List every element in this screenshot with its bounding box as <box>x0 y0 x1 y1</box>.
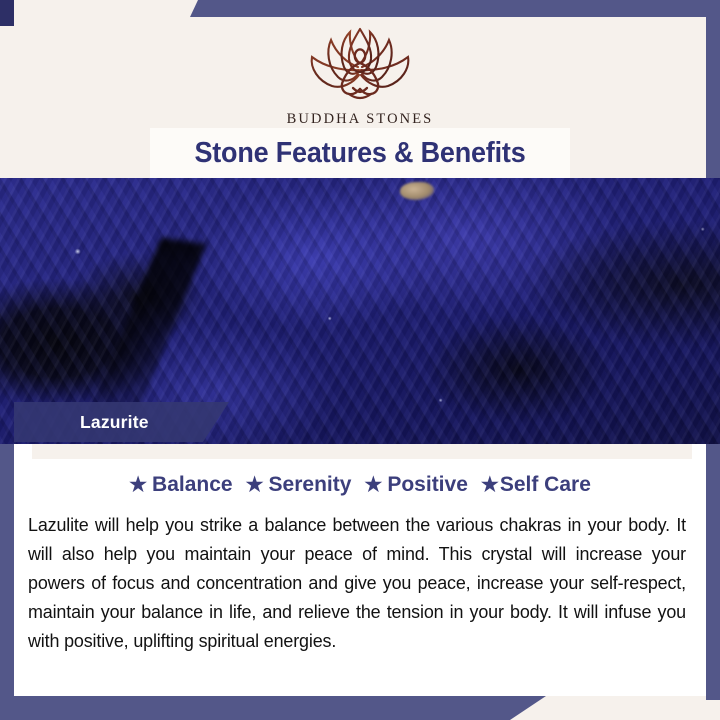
title-banner: Stone Features & Benefits <box>150 128 570 178</box>
star-icon: ★ <box>481 475 499 495</box>
benefit-label: Serenity <box>269 473 352 497</box>
benefits-list: ★ Balance ★ Serenity ★ Positive ★ Self C… <box>14 473 706 497</box>
stone-name-label: Lazurite <box>80 412 149 433</box>
benefit-item-serenity: ★ Serenity <box>246 473 352 497</box>
frame-band-top <box>190 0 720 17</box>
star-icon: ★ <box>129 475 147 495</box>
star-icon: ★ <box>246 475 264 495</box>
infographic-card: BUDDHA STONES Stone Features & Benefits … <box>0 0 720 720</box>
benefit-label: Positive <box>387 473 468 497</box>
content-panel: ★ Balance ★ Serenity ★ Positive ★ Self C… <box>14 444 706 696</box>
benefit-label: Balance <box>152 473 233 497</box>
frame-band-bottom <box>0 696 546 720</box>
benefit-item-self-care: ★ Self Care <box>481 473 591 497</box>
brand-name: BUDDHA STONES <box>287 111 434 128</box>
benefit-item-positive: ★ Positive <box>364 473 467 497</box>
content-top-strip <box>32 444 692 459</box>
brand-logo: BUDDHA STONES <box>14 23 706 128</box>
stone-name-tag: Lazurite <box>14 402 229 442</box>
benefit-label: Self Care <box>500 473 591 497</box>
stone-description: Lazulite will help you strike a balance … <box>28 511 686 656</box>
lotus-meditation-icon <box>285 23 435 109</box>
frame-corner-block <box>0 0 14 26</box>
frame-band-left <box>0 444 14 696</box>
benefit-item-balance: ★ Balance <box>129 473 232 497</box>
page-title: Stone Features & Benefits <box>194 137 525 170</box>
star-icon: ★ <box>364 475 382 495</box>
